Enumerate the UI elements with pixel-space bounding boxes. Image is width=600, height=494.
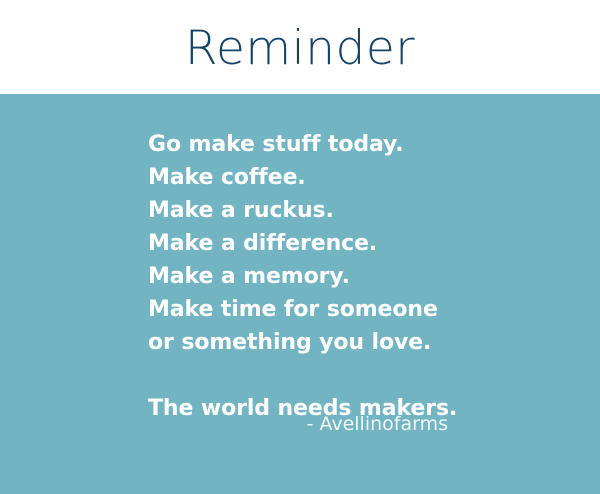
attribution-row: - Avellinofarms: [0, 411, 448, 437]
quote-line: Make a memory.: [148, 260, 576, 293]
quote-line: or something you love.: [148, 326, 576, 359]
quote-panel: Go make stuff today. Make coffee. Make a…: [0, 94, 600, 494]
quote-text-block: Go make stuff today. Make coffee. Make a…: [148, 128, 576, 425]
quote-line: Make time for someone: [148, 293, 576, 326]
page-title: Reminder: [185, 23, 415, 72]
reminder-poster: Reminder Go make stuff today. Make coffe…: [0, 0, 600, 494]
quote-attribution: - Avellinofarms: [307, 413, 448, 435]
quote-line: Make a ruckus.: [148, 194, 576, 227]
quote-line: Make a difference.: [148, 227, 576, 260]
quote-line: Go make stuff today.: [148, 128, 576, 161]
quote-line: Make coffee.: [148, 161, 576, 194]
header-band: Reminder: [0, 0, 600, 94]
quote-gap-spacer: [148, 359, 576, 392]
